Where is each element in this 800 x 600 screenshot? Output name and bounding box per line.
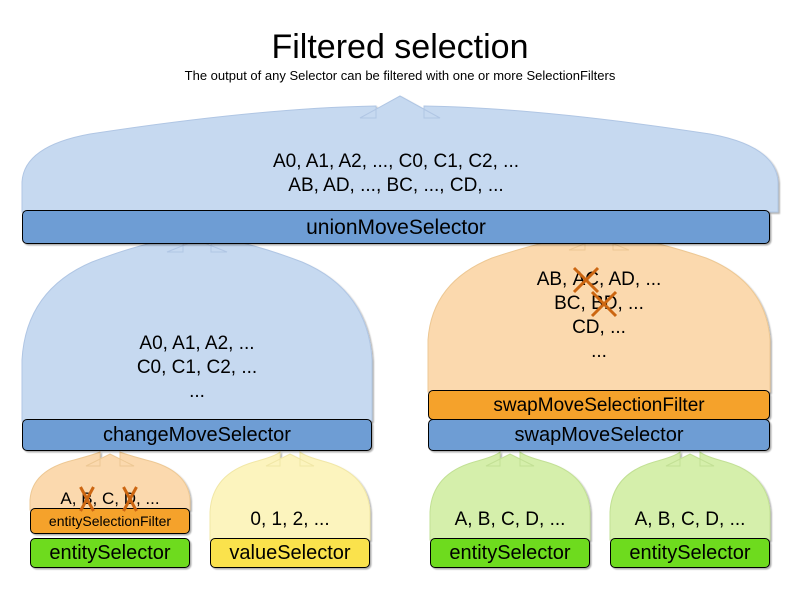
entity-swap-right-dome-shape <box>610 452 770 540</box>
entity-selection-filter-label: entitySelectionFilter <box>49 514 171 528</box>
entity-selection-filter-bar[interactable]: entitySelectionFilter <box>30 508 190 534</box>
diagram-canvas: Filtered selection The output of any Sel… <box>0 0 800 600</box>
entity-selector-filtered-label: entitySelector <box>49 543 170 563</box>
entity-swap-left-dome-shape <box>430 452 590 540</box>
entity-selector-swap-left-label: entitySelector <box>449 543 570 563</box>
union-move-selector-label: unionMoveSelector <box>306 217 486 238</box>
swap-move-selection-filter-label: swapMoveSelectionFilter <box>493 396 704 415</box>
swap-dome-shape <box>428 236 770 392</box>
swap-move-selector-label: swapMoveSelector <box>515 425 684 445</box>
union-move-selector-bar[interactable]: unionMoveSelector <box>22 210 770 244</box>
entity-selector-filtered-bar[interactable]: entitySelector <box>30 538 190 568</box>
value-selector-bar[interactable]: valueSelector <box>210 538 370 568</box>
union-dome-shape <box>22 96 778 212</box>
swap-move-selection-filter-bar[interactable]: swapMoveSelectionFilter <box>428 390 770 420</box>
entity-selector-swap-right-label: entitySelector <box>629 543 750 563</box>
value-selector-label: valueSelector <box>229 543 350 563</box>
change-dome-shape <box>22 238 372 421</box>
entity-selector-swap-left-bar[interactable]: entitySelector <box>430 538 590 568</box>
entity-filtered-dome-shape <box>30 452 190 510</box>
change-move-selector-label: changeMoveSelector <box>103 425 291 445</box>
entity-selector-swap-right-bar[interactable]: entitySelector <box>610 538 770 568</box>
swap-move-selector-bar[interactable]: swapMoveSelector <box>428 419 770 451</box>
change-move-selector-bar[interactable]: changeMoveSelector <box>22 419 372 451</box>
value-dome-shape <box>210 452 370 540</box>
